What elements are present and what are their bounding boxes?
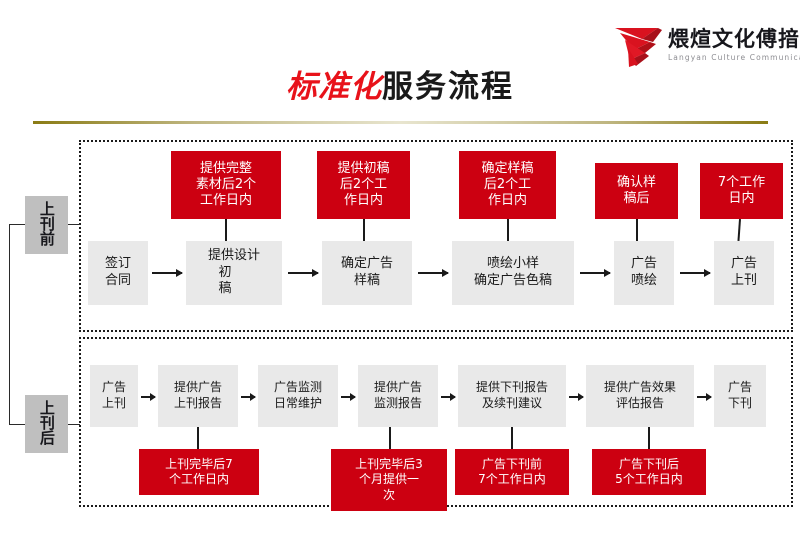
node-pre-2-text: 提供设计 初 稿 — [186, 248, 282, 298]
stem-pre-3 — [507, 219, 509, 241]
callout-pre-2-text: 提供初稿 后2个工 作日内 — [335, 161, 391, 210]
stem-pre-2 — [363, 219, 365, 241]
node-pre-4[interactable]: 喷绘小样 确定广告色稿 — [452, 241, 574, 305]
arrow-pre-3 — [418, 272, 448, 274]
node-post-7[interactable]: 广告 下刊 — [714, 365, 766, 427]
arrow-pre-2 — [288, 272, 318, 274]
node-post-1-text: 广告 上刊 — [99, 380, 129, 411]
callout-pre-4-text: 确认样 稿后 — [615, 175, 658, 208]
stem-post-2 — [389, 427, 391, 449]
arrow-post-5 — [569, 396, 583, 398]
callout-post-3: 广告下刊前 7个工作日内 — [455, 449, 569, 495]
node-post-4-text: 提供广告 监测报告 — [371, 380, 425, 411]
node-post-3[interactable]: 广告监测 日常维护 — [258, 365, 338, 427]
node-pre-3-text: 确定广告 样稿 — [338, 256, 396, 289]
node-post-6-text: 提供广告效果 评估报告 — [601, 380, 679, 411]
callout-pre-3: 确定样稿 后2个工 作日内 — [459, 151, 556, 219]
arrow-post-4 — [441, 396, 455, 398]
callout-pre-3-text: 确定样稿 后2个工 作日内 — [479, 161, 535, 210]
node-pre-6-text: 广告 上刊 — [728, 256, 760, 289]
stem-pre-1 — [225, 219, 227, 241]
callout-post-2-text: 上刊完毕后3 个月提供一 次 — [353, 457, 425, 503]
page-title-highlight: 标准化 — [286, 69, 382, 105]
stem-post-4 — [648, 427, 650, 449]
brand-logo: 煨煊文化傅揞 Langyan Culture Communication — [612, 14, 798, 76]
side-label-pre-publication: 上刊前 — [25, 196, 68, 254]
callout-pre-5: 7个工作 日内 — [700, 163, 783, 219]
node-pre-1[interactable]: 签订 合同 — [88, 241, 148, 305]
node-pre-6[interactable]: 广告 上刊 — [714, 241, 774, 305]
brand-name-cn: 煨煊文化傅揞 — [668, 28, 800, 50]
callout-post-4: 广告下刊后 5个工作日内 — [592, 449, 706, 495]
page-title-rest: 服务流程 — [382, 69, 514, 105]
callout-pre-2: 提供初稿 后2个工 作日内 — [317, 151, 410, 219]
callout-pre-1-text: 提供完整 素材后2个 工作日内 — [194, 161, 258, 210]
callout-pre-4: 确认样 稿后 — [595, 163, 678, 219]
arrow-post-1 — [141, 396, 155, 398]
node-pre-5[interactable]: 广告 喷绘 — [614, 241, 674, 305]
callout-post-2: 上刊完毕后3 个月提供一 次 — [331, 449, 447, 511]
node-post-5[interactable]: 提供下刊报告 及续刊建议 — [458, 365, 566, 427]
brand-name-en: Langyan Culture Communication — [668, 53, 800, 62]
callout-post-4-text: 广告下刊后 5个工作日内 — [613, 457, 685, 488]
node-post-2[interactable]: 提供广告 上刊报告 — [158, 365, 238, 427]
callout-post-3-text: 广告下刊前 7个工作日内 — [476, 457, 548, 488]
callout-pre-1: 提供完整 素材后2个 工作日内 — [171, 151, 281, 219]
node-pre-3[interactable]: 确定广告 样稿 — [322, 241, 412, 305]
arrow-post-2 — [241, 396, 255, 398]
node-pre-2[interactable]: 提供设计 初 稿 — [186, 241, 282, 305]
node-post-4[interactable]: 提供广告 监测报告 — [358, 365, 438, 427]
slide-canvas: 煨煊文化傅揞 Langyan Culture Communication 标准化… — [0, 0, 800, 556]
stem-post-3 — [511, 427, 513, 449]
callout-post-1: 上刊完毕后7 个工作日内 — [139, 449, 259, 495]
arrow-pre-5 — [680, 272, 710, 274]
side-label-post-text: 上刊后 — [21, 400, 71, 449]
node-post-5-text: 提供下刊报告 及续刊建议 — [473, 380, 551, 411]
node-post-3-text: 广告监测 日常维护 — [271, 380, 325, 411]
side-label-post-publication: 上刊后 — [25, 395, 68, 453]
arrow-post-6 — [697, 396, 711, 398]
arrow-post-3 — [341, 396, 355, 398]
node-post-6[interactable]: 提供广告效果 评估报告 — [586, 365, 694, 427]
side-label-pre-text: 上刊前 — [21, 201, 71, 250]
callout-post-1-text: 上刊完毕后7 个工作日内 — [163, 457, 235, 488]
node-pre-5-text: 广告 喷绘 — [628, 256, 660, 289]
arrow-pre-1 — [152, 272, 182, 274]
callout-pre-5-text: 7个工作 日内 — [716, 175, 767, 208]
title-divider — [33, 121, 768, 124]
stem-post-1 — [197, 427, 199, 449]
page-title: 标准化服务流程 — [0, 72, 800, 103]
node-post-1[interactable]: 广告 上刊 — [90, 365, 138, 427]
stem-pre-4 — [636, 219, 638, 241]
node-pre-4-text: 喷绘小样 确定广告色稿 — [471, 256, 555, 289]
node-post-2-text: 提供广告 上刊报告 — [171, 380, 225, 411]
red-ribbon-arrow-logo-icon — [612, 20, 664, 70]
arrow-pre-4 — [580, 272, 610, 274]
node-pre-1-text: 签订 合同 — [102, 256, 134, 289]
node-post-7-text: 广告 下刊 — [725, 380, 755, 411]
